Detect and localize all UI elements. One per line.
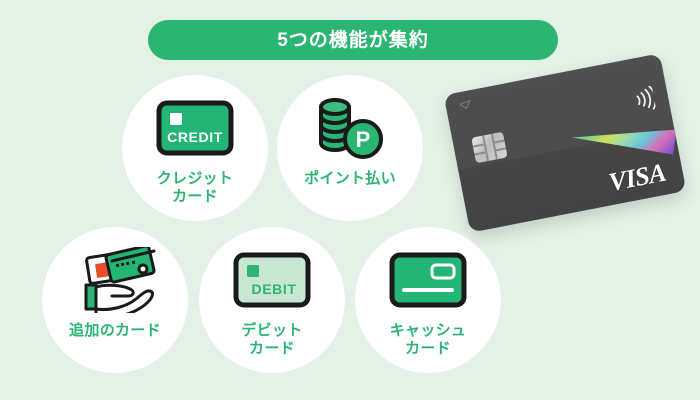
feature-circle-cash-card: キャッシュ カード (355, 227, 501, 373)
svg-text:P: P (356, 127, 371, 152)
feature-circle-credit: CREDIT クレジット カード (122, 75, 268, 221)
header-banner: 5つの機能が集約 (148, 20, 558, 60)
svg-text:CREDIT: CREDIT (167, 129, 223, 145)
visa-card-image: VISA (444, 53, 687, 232)
feature-caption-credit: クレジット カード (157, 170, 234, 207)
card-brand-mark-icon (459, 100, 472, 110)
emv-chip-icon (471, 132, 507, 164)
cash-card-icon (389, 239, 467, 321)
feature-circle-debit: DEBIT デビット カード (199, 227, 345, 373)
feature-caption-cash-card: キャッシュ カード (390, 322, 467, 359)
page-title: 5つの機能が集約 (277, 31, 429, 50)
contactless-payment-icon (632, 85, 656, 112)
feature-caption-extra-card: 追加のカード (69, 322, 161, 340)
feature-circle-extra-card: 追加のカード (42, 227, 188, 373)
feature-circle-point: P ポイント払い (277, 75, 423, 221)
credit-card-icon: CREDIT (156, 87, 234, 169)
feature-caption-debit: デビット カード (241, 322, 302, 359)
hand-holding-cards-icon (72, 239, 158, 321)
coin-stack-p-icon: P (311, 87, 389, 169)
debit-card-icon: DEBIT (233, 239, 311, 321)
feature-caption-point: ポイント払い (304, 170, 396, 188)
svg-text:DEBIT: DEBIT (252, 281, 297, 297)
promo-graphic: 5つの機能が集約 CREDIT クレジット カード (0, 0, 700, 400)
